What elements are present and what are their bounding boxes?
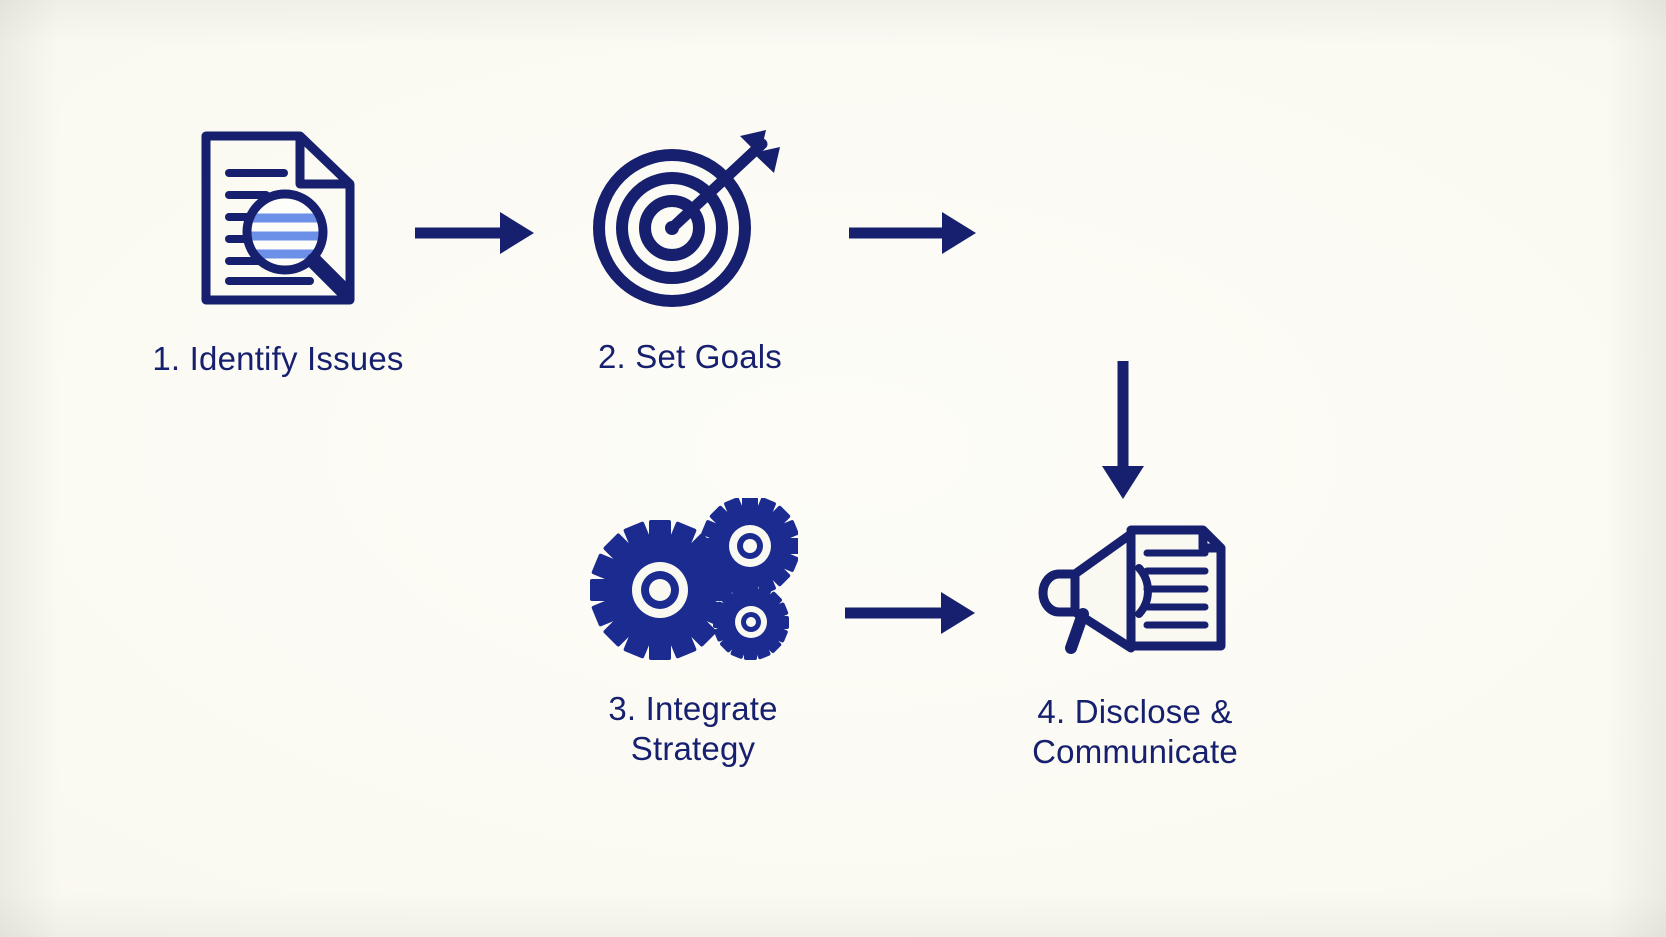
process-step-label: 4. Disclose & Communicate [1032, 692, 1238, 773]
target-arrow-icon [590, 126, 790, 311]
process-step-label: 1. Identify Issues [152, 339, 403, 379]
arrow-step3-to-step4 [842, 578, 980, 653]
megaphone-document-icon [1035, 516, 1235, 666]
arrow-step1-to-step2 [412, 198, 537, 273]
process-step-label: 3. Integrate Strategy [608, 689, 777, 770]
process-step-set-goals[interactable]: 2. Set Goals [545, 126, 835, 377]
process-step-label: 2. Set Goals [598, 337, 782, 377]
document-magnifier-icon [188, 128, 368, 313]
process-flow-diagram: 1. Identify Issues 2. Set Goa [0, 0, 1666, 937]
process-step-disclose-communicate[interactable]: 4. Disclose & Communicate [985, 516, 1285, 773]
gears-icon [588, 498, 798, 663]
arrow-step2-to-right [846, 198, 981, 273]
process-step-identify-issues[interactable]: 1. Identify Issues [108, 128, 448, 379]
arrow-down-to-step4 [1088, 358, 1158, 508]
process-step-integrate-strategy[interactable]: 3. Integrate Strategy [548, 498, 838, 770]
